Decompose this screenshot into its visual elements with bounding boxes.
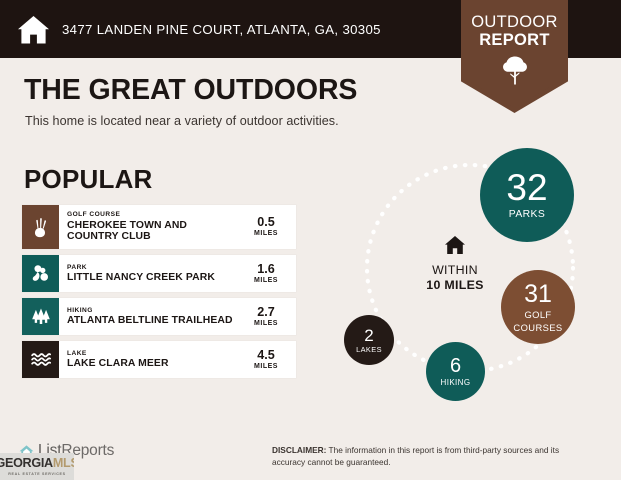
georgia-mls-wordmark: GEORGIA MLS [0, 457, 74, 470]
distance-unit: MILES [254, 229, 278, 238]
bubble-hiking-label: HIKING [441, 379, 471, 387]
list-item-name: LITTLE NANCY CREEK PARK [67, 272, 240, 284]
list-item-text: GOLF COURSE CHEROKEE TOWN AND COUNTRY CL… [59, 205, 240, 249]
tree-icon [502, 55, 528, 85]
distance-unit: MILES [254, 319, 278, 328]
list-item-text: LAKE LAKE CLARA MEER [59, 341, 240, 378]
page-subtitle: This home is located near a variety of o… [25, 114, 339, 128]
list-item-category: PARK [67, 264, 240, 273]
property-address: 3477 LANDEN PINE COURT, ATLANTA, GA, 303… [62, 22, 381, 37]
badge-title-line1: OUTDOOR [471, 13, 557, 31]
bubble-lakes-value: 2 [364, 327, 373, 344]
bubble-hiking[interactable]: 6 HIKING [426, 342, 485, 401]
georgia-mls-word-mls: MLS [53, 457, 74, 470]
distance-value: 4.5 [257, 349, 275, 362]
distance-value: 2.7 [257, 306, 275, 319]
bubble-golf-value: 31 [524, 282, 552, 307]
within-radius-label: WITHIN 10 MILES [405, 235, 505, 292]
within-label-line1: WITHIN [405, 263, 505, 277]
distance-value: 0.5 [257, 216, 275, 229]
popular-poi-list: GOLF COURSE CHEROKEE TOWN AND COUNTRY CL… [22, 205, 296, 384]
bubble-hiking-value: 6 [450, 356, 461, 376]
bubble-lakes-label: LAKES [356, 346, 382, 354]
list-item-distance: 0.5 MILES [240, 205, 296, 249]
list-item[interactable]: PARK LITTLE NANCY CREEK PARK 1.6 MILES [22, 255, 296, 292]
within-10-miles-bubble-chart: 32 PARKS 31 GOLF COURSES 6 HIKING 2 LAKE… [330, 140, 610, 410]
bubble-golf-courses[interactable]: 31 GOLF COURSES [501, 270, 575, 344]
bubble-golf-label-line2: COURSES [513, 323, 562, 333]
golf-bag-icon [22, 205, 59, 249]
house-icon [444, 235, 466, 255]
list-item-category: GOLF COURSE [67, 211, 240, 220]
page-title: THE GREAT OUTDOORS [24, 74, 357, 107]
list-item-distance: 4.5 MILES [240, 341, 296, 378]
bubble-parks-label: PARKS [509, 210, 545, 221]
badge-title-line2: REPORT [479, 31, 550, 49]
house-icon [17, 14, 50, 45]
list-item-name: CHEROKEE TOWN AND COUNTRY CLUB [67, 220, 240, 243]
list-item-category: HIKING [67, 307, 240, 316]
disclaimer-label: DISCLAIMER: [272, 445, 326, 455]
bubble-parks-value: 32 [506, 169, 547, 206]
disclaimer: DISCLAIMER: The information in this repo… [272, 445, 588, 468]
distance-unit: MILES [254, 362, 278, 371]
list-item[interactable]: GOLF COURSE CHEROKEE TOWN AND COUNTRY CL… [22, 205, 296, 249]
within-label-line2: 10 MILES [405, 278, 505, 292]
bubble-lakes[interactable]: 2 LAKES [344, 315, 394, 365]
outdoor-report-page: 3477 LANDEN PINE COURT, ATLANTA, GA, 303… [0, 0, 621, 480]
list-item-distance: 1.6 MILES [240, 255, 296, 292]
list-item-category: LAKE [67, 350, 240, 359]
water-waves-icon [22, 341, 59, 378]
list-item[interactable]: HIKING ATLANTA BELTLINE TRAILHEAD 2.7 MI… [22, 298, 296, 335]
park-trees-icon [22, 255, 59, 292]
list-item-text: HIKING ATLANTA BELTLINE TRAILHEAD [59, 298, 240, 335]
georgia-mls-word-georgia: GEORGIA [0, 457, 53, 470]
distance-value: 1.6 [257, 263, 275, 276]
distance-unit: MILES [254, 276, 278, 285]
georgia-mls-subtitle: REAL ESTATE SERVICES [8, 472, 65, 476]
list-item-text: PARK LITTLE NANCY CREEK PARK [59, 255, 240, 292]
footer-divider [0, 424, 621, 425]
bubble-parks[interactable]: 32 PARKS [480, 148, 574, 242]
popular-section-heading: POPULAR [24, 164, 153, 195]
list-item[interactable]: LAKE LAKE CLARA MEER 4.5 MILES [22, 341, 296, 378]
pine-trees-icon [22, 298, 59, 335]
list-item-name: ATLANTA BELTLINE TRAILHEAD [67, 315, 240, 327]
list-item-distance: 2.7 MILES [240, 298, 296, 335]
georgia-mls-logo: GEORGIA MLS REAL ESTATE SERVICES [0, 453, 74, 480]
bubble-golf-label-line1: GOLF [524, 310, 551, 320]
list-item-name: LAKE CLARA MEER [67, 358, 240, 370]
